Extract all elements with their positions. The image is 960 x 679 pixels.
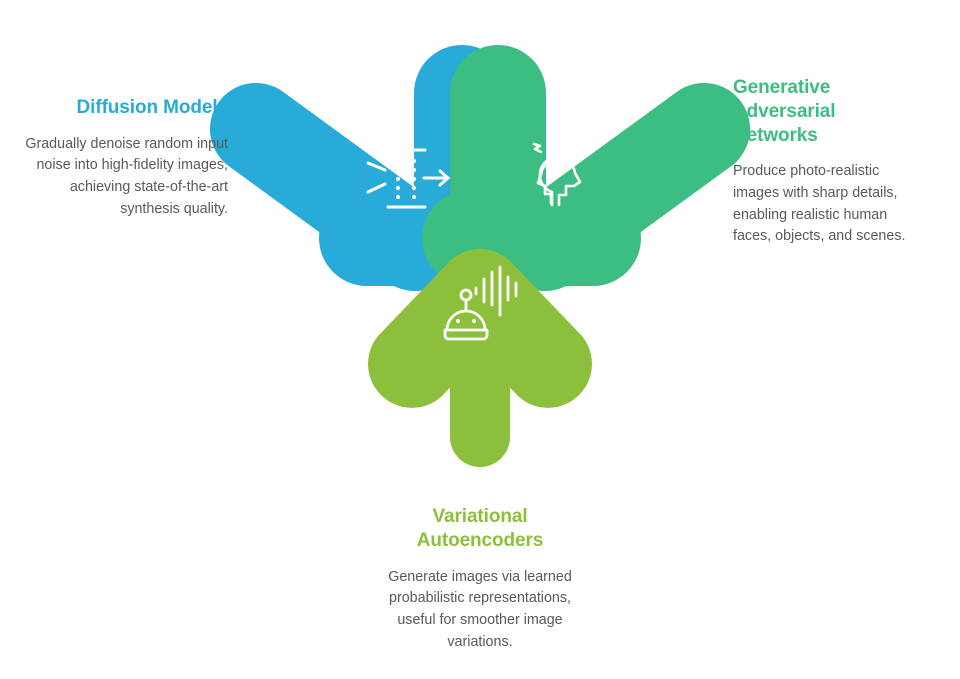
- body-diffusion: Gradually denoise random input noise int…: [20, 134, 228, 221]
- body-vae: Generate images via learned probabilisti…: [378, 567, 582, 654]
- infographic-canvas: Diffusion Models Gradually denoise rando…: [0, 0, 960, 679]
- text-block-gan: Generative Adversarial Networks Produce …: [733, 76, 919, 248]
- text-block-diffusion: Diffusion Models Gradually denoise rando…: [20, 96, 228, 221]
- text-block-vae: Variational Autoencoders Generate images…: [378, 505, 582, 653]
- body-gan: Produce photo-realistic images with shar…: [733, 161, 919, 248]
- heading-diffusion: Diffusion Models: [20, 96, 228, 120]
- lightning-right: [571, 143, 577, 157]
- lightning-center: [553, 139, 559, 157]
- heading-gan: Generative Adversarial Networks: [733, 76, 919, 147]
- heading-vae: Variational Autoencoders: [378, 505, 582, 553]
